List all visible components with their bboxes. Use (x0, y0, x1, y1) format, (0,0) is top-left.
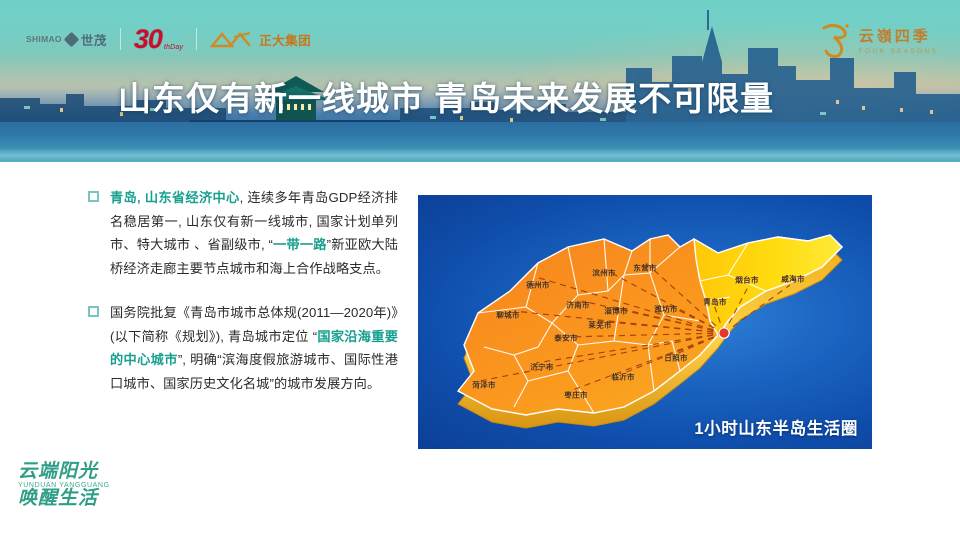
map-city-label: 东营市 (633, 263, 656, 274)
map-city-label: 滨州市 (592, 268, 615, 279)
anniversary-number: 30 (134, 26, 162, 53)
shimao-diamond-icon (64, 31, 80, 47)
qingdao-hub-marker (719, 328, 729, 338)
map-caption: 1小时山东半岛生活圈 (694, 415, 858, 439)
page-title: 山东仅有新一线城市 青岛未来发展不可限量 (118, 72, 774, 120)
brand-name-en: FOUR SEASONS (859, 48, 938, 55)
hollow-square-bullet-icon (88, 191, 99, 202)
highlighted-text: 一带一路 (273, 237, 327, 252)
map-city-label: 济宁市 (530, 362, 553, 373)
map-city-label: 泰安市 (554, 333, 577, 344)
hollow-square-bullet-icon (88, 306, 99, 317)
map-city-label: 莱芜市 (588, 320, 611, 331)
bullet-list: 青岛, 山东省经济中心, 连续多年青岛GDP经济排名稳居第一, 山东仅有新一线城… (88, 186, 398, 416)
list-item: 青岛, 山东省经济中心, 连续多年青岛GDP经济排名稳居第一, 山东仅有新一线城… (88, 186, 398, 280)
shimao-logo-cn: 世茂 (81, 30, 107, 49)
map-city-label: 菏泽市 (472, 380, 495, 391)
map-city-label: 济南市 (566, 300, 589, 311)
corporate-logo-row: SHIMAO 世茂 30 thDay 正大集团 (26, 24, 311, 54)
map-city-label: 烟台市 (735, 275, 758, 286)
shimao-logo: SHIMAO 世茂 (26, 30, 107, 49)
logo-divider-2 (196, 28, 197, 50)
map-city-label: 聊城市 (496, 310, 519, 321)
four-seasons-brand-logo: 云嶺四季 FOUR SEASONS (818, 20, 938, 60)
shandong-province-map-svg (418, 195, 872, 449)
highlighted-text: 青岛, 山东省经济中心 (110, 190, 240, 205)
shandong-map-image: 德州市滨州市东营市聊城市济南市淄博市潍坊市莱芜市泰安市济宁市菏泽市枣庄市临沂市日… (418, 195, 872, 449)
map-city-label: 日照市 (664, 353, 687, 364)
bullet-paragraph-2: 国务院批复《青岛市城市总体规(2011—2020年)》(以下简称《规划》), 青… (110, 301, 398, 395)
header-banner: SHIMAO 世茂 30 thDay 正大集团 (0, 0, 960, 162)
anniversary-sub: thDay (164, 44, 183, 51)
footer-brand-logo: 云端阳光 YUNDUAN YANGGUANG 唤醒生活 (18, 462, 130, 514)
footer-brand-line1: 云端阳光 (18, 462, 130, 482)
zhengda-group-logo: 正大集团 (210, 30, 311, 49)
map-city-label: 临沂市 (611, 372, 634, 383)
map-city-label: 淄博市 (604, 306, 627, 317)
slide-root: SHIMAO 世茂 30 thDay 正大集团 (0, 0, 960, 540)
shimao-logo-en: SHIMAO (26, 34, 62, 44)
map-city-label: 枣庄市 (564, 390, 587, 401)
map-city-label: 德州市 (526, 280, 549, 291)
zhengda-mountain-icon (210, 31, 254, 48)
map-city-label: 潍坊市 (654, 304, 677, 315)
sea-shine (0, 148, 960, 160)
footer-brand-line2: 唤醒生活 (18, 489, 130, 509)
map-peninsula-yellow (694, 235, 842, 335)
brand-name-cn: 云嶺四季 (859, 25, 938, 46)
banner-sea (0, 122, 960, 162)
map-city-label: 青岛市 (703, 297, 726, 308)
bullet-paragraph-1: 青岛, 山东省经济中心, 连续多年青岛GDP经济排名稳居第一, 山东仅有新一线城… (110, 186, 398, 280)
cloud-ridge-calligraphy-icon (818, 20, 852, 60)
content-area: 青岛, 山东省经济中心, 连续多年青岛GDP经济排名稳居第一, 山东仅有新一线城… (0, 162, 960, 540)
30th-anniversary-logo: 30 thDay (134, 26, 183, 53)
list-item: 国务院批复《青岛市城市总体规(2011—2020年)》(以下简称《规划》), 青… (88, 301, 398, 395)
logo-divider (120, 28, 121, 50)
map-city-label: 威海市 (781, 274, 804, 285)
zhengda-logo-cn: 正大集团 (259, 30, 311, 49)
